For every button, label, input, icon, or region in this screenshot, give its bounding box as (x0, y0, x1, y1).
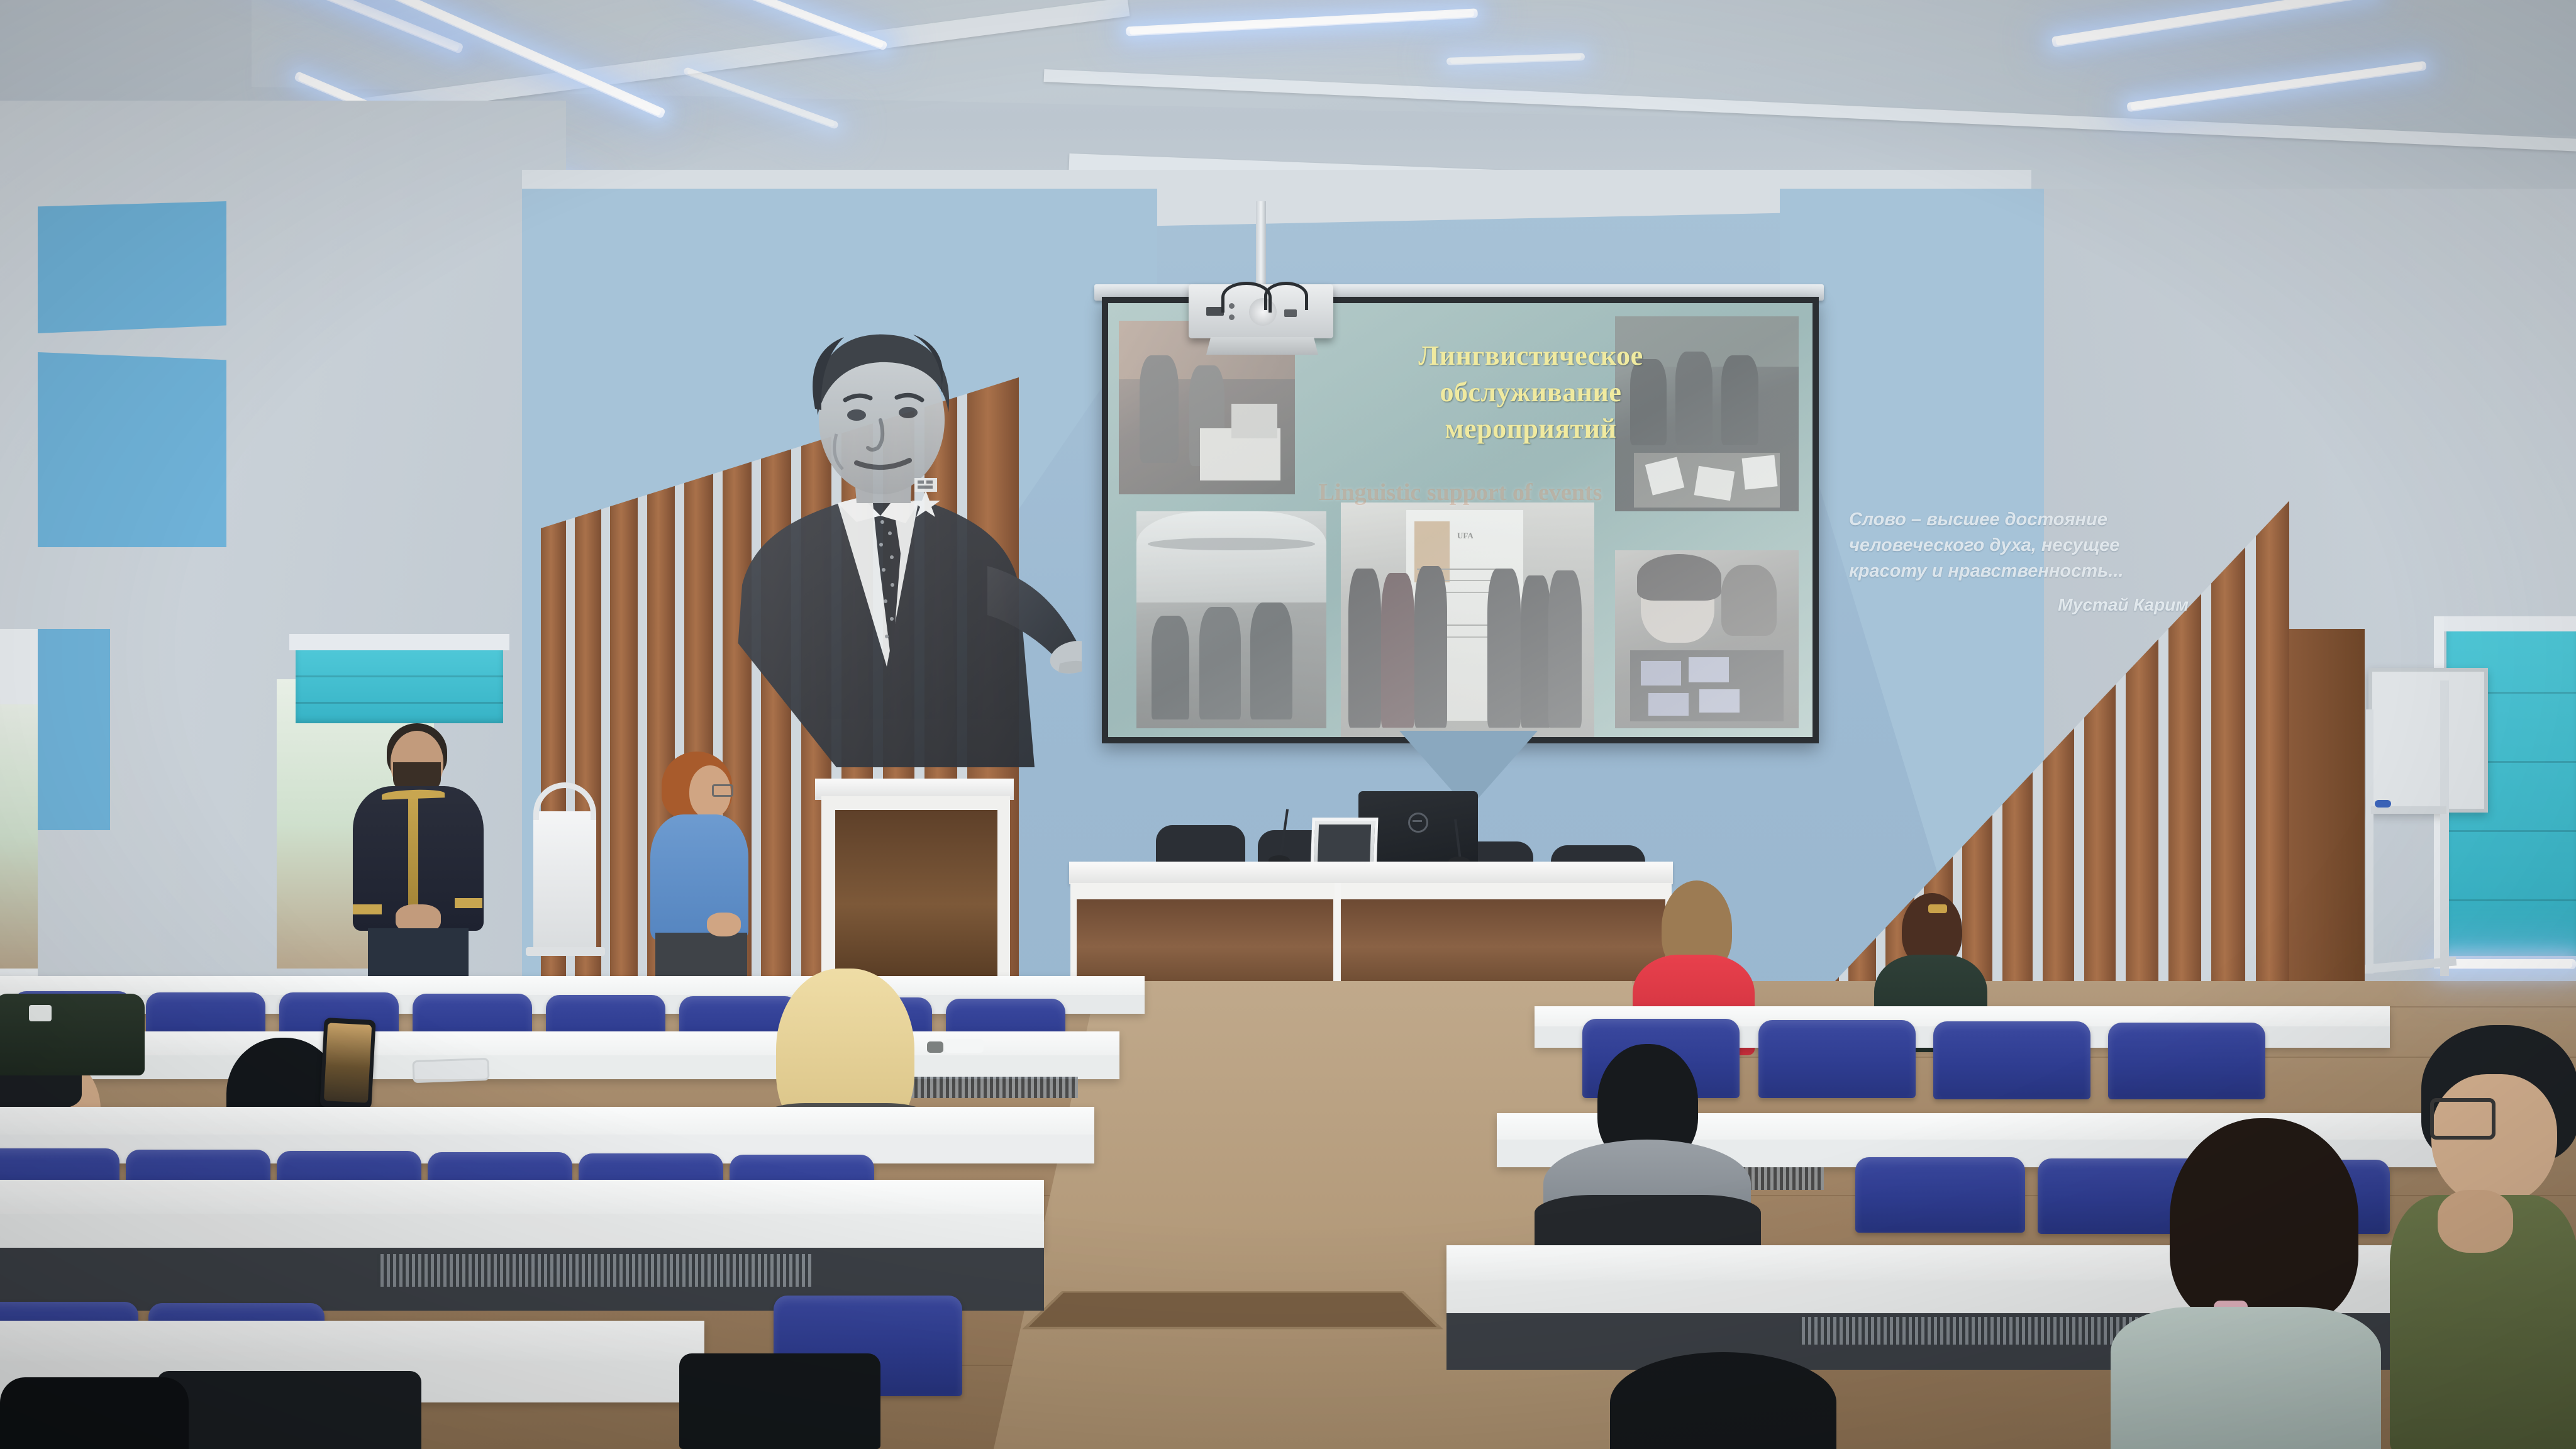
student-hand (2438, 1190, 2513, 1253)
projector-cable (1264, 282, 1308, 310)
mural-portrait-mustai-karim (692, 314, 1082, 767)
student-grey-hoodie (1509, 1044, 1774, 1258)
seat[interactable] (2108, 1023, 2265, 1099)
wall-quote: Слово – высшее достояние человеческого д… (1849, 507, 2189, 617)
window-sill-light-right (2440, 959, 2576, 969)
backpack (0, 994, 145, 1075)
heater-legs (526, 947, 605, 956)
slide-title: Лингвистическое обслуживание мероприятий (1333, 338, 1728, 447)
whiteboard-leg (2366, 709, 2373, 974)
projector-base (1206, 337, 1318, 355)
dell-logo-icon (1408, 813, 1428, 833)
seat[interactable] (1933, 1021, 2090, 1099)
whiteboard-marker[interactable] (2375, 800, 2391, 808)
presenter-female-glasses-icon (712, 784, 733, 797)
window-valance-right (2440, 616, 2576, 631)
heater-stand (533, 811, 596, 956)
presenter-male-cuff (353, 904, 382, 914)
desk-item-small (927, 1041, 943, 1053)
window-valance-left (289, 634, 509, 650)
presenter-male-cuff (455, 898, 482, 908)
whiteboard[interactable] (2368, 668, 2488, 813)
whiteboard-leg (2440, 680, 2449, 976)
phone-case (412, 1058, 489, 1083)
presentation-slide: UFA (1108, 303, 1813, 737)
presidium-table-top (1069, 862, 1673, 884)
presenter-female (641, 752, 755, 1003)
student-head (2431, 1074, 2557, 1206)
student-foreground-right-head (1610, 1352, 1836, 1449)
wall-accent-panel (38, 201, 226, 333)
smartphone[interactable] (319, 1018, 375, 1109)
phone-screen (324, 1023, 372, 1102)
student-foreground-left (0, 1377, 189, 1449)
coat-on-seat (157, 1371, 421, 1449)
desk-row-left-d (0, 1180, 1044, 1249)
desk-grille (377, 1254, 811, 1287)
wall-stub-right (2289, 629, 2365, 981)
microphone-right[interactable] (1446, 816, 1472, 867)
desk-item-tissue (945, 1039, 984, 1053)
student-olive-hoodie (2327, 1025, 2576, 1449)
backpack-foreground (679, 1353, 880, 1449)
presenter-male (343, 723, 494, 994)
window-blind-left[interactable] (296, 648, 503, 723)
microphone-left[interactable] (1267, 805, 1292, 865)
wall-quote-author: Мустай Карим (1849, 592, 2189, 618)
hair-clip (1928, 904, 1947, 913)
wall-accent-panel (38, 352, 226, 547)
seat[interactable] (1855, 1157, 2025, 1233)
window-left-far (0, 704, 38, 969)
floor-hatch (1022, 1291, 1443, 1330)
lecture-hall-photo: UFA (0, 0, 2576, 1449)
seat[interactable] (1758, 1020, 1916, 1098)
projector-mount-rod (1256, 201, 1266, 288)
slide-subtitle: Linguistic support of events (1192, 479, 1728, 506)
glasses-icon (2430, 1098, 2495, 1140)
presenter-female-hand (707, 913, 741, 936)
projection-screen: UFA (1102, 297, 1819, 743)
backpack-logo-icon (29, 1005, 52, 1021)
